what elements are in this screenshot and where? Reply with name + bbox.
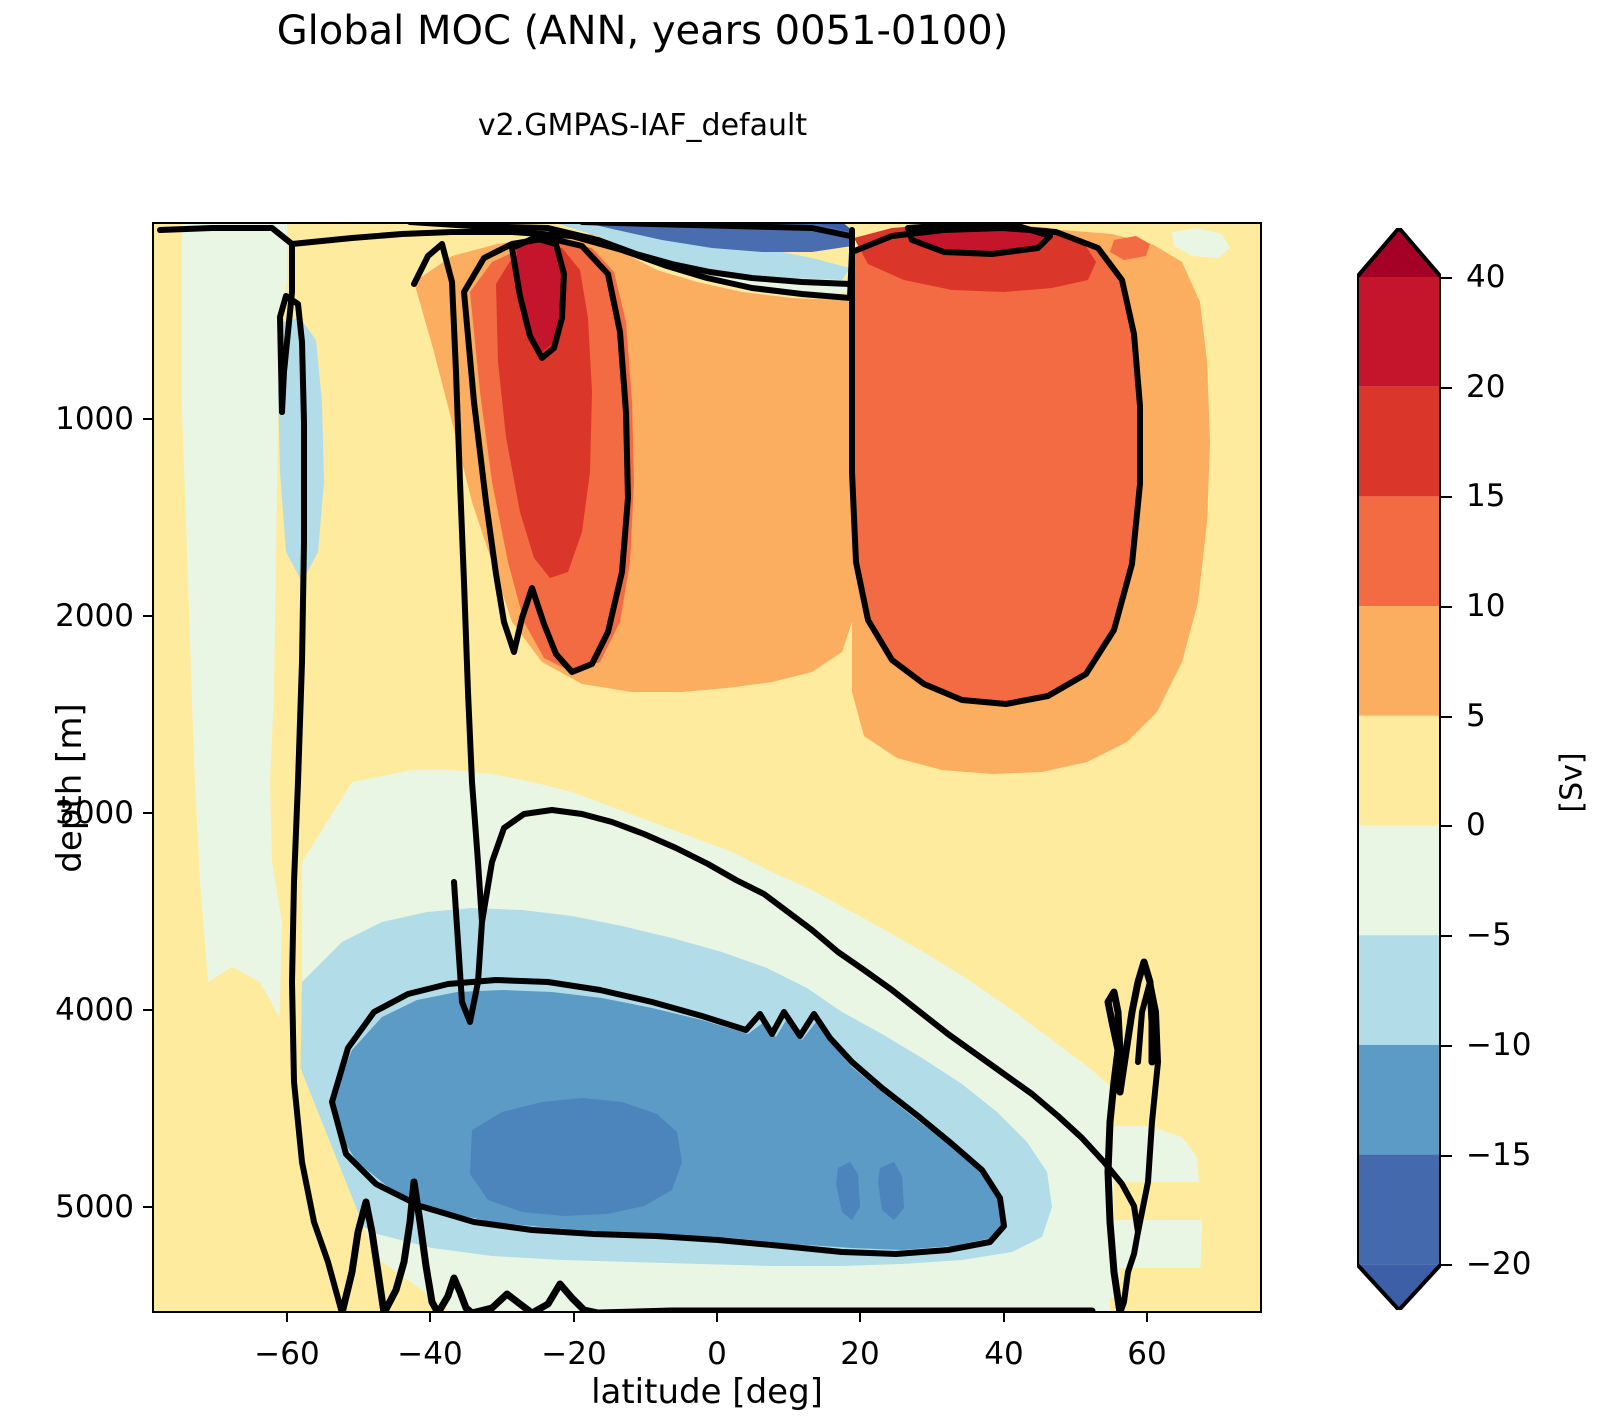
colorbar-tick-label: 5 (1466, 698, 1486, 734)
xtick-label: 0 (707, 1336, 727, 1372)
band-neg15toneg10-core (470, 1098, 682, 1216)
contour-bands (152, 222, 1262, 1313)
colorbar-svg[interactable] (1357, 228, 1441, 1310)
xtick-mark (1146, 1313, 1148, 1322)
xtick-label: 20 (840, 1336, 879, 1372)
colorbar-band-15to20 (1357, 387, 1441, 497)
colorbar-tick-label: 40 (1466, 259, 1505, 295)
xtick-mark (859, 1313, 861, 1322)
yaxis-label: depth [m] (50, 688, 90, 888)
colorbar-tick-label: −10 (1466, 1027, 1531, 1063)
colorbar-tick (1441, 1045, 1452, 1047)
ytick-mark (143, 812, 152, 814)
bathymetry-flat (598, 1311, 1092, 1313)
figure-subtitle: v2.GMPAS-IAF_default (0, 108, 1285, 143)
colorbar-tick (1441, 606, 1452, 608)
xtick-label: −40 (397, 1336, 462, 1372)
colorbar-tick-label: −5 (1466, 917, 1512, 953)
colorbar-tick (1441, 496, 1452, 498)
xtick-mark (286, 1313, 288, 1322)
xtick-label: −20 (541, 1336, 606, 1372)
xtick-label: 40 (984, 1336, 1023, 1372)
ytick-mark (143, 418, 152, 420)
colorbar-tick (1441, 277, 1452, 279)
colorbar-band-5to10 (1357, 606, 1441, 716)
colorbar-band-neg10toneg5 (1357, 935, 1441, 1045)
xtick-label: −60 (254, 1336, 319, 1372)
colorbar-tick-label: 10 (1466, 588, 1505, 624)
colorbar-band-20to40 (1357, 277, 1441, 387)
colorbar-tick (1441, 387, 1452, 389)
colorbar-tick-label: 0 (1466, 807, 1486, 843)
colorbar-band-0to5 (1357, 716, 1441, 826)
colorbar-band-neg15toneg10 (1357, 1045, 1441, 1155)
ytick-label: 1000 (14, 401, 134, 437)
colorbar[interactable] (1357, 228, 1441, 1310)
colorbar-band-neg5to0 (1357, 826, 1441, 936)
colorbar-extend-max (1357, 228, 1441, 277)
ytick-label: 5000 (14, 1189, 134, 1225)
ytick-label: 2000 (14, 598, 134, 634)
band-10to15-north (852, 228, 1140, 702)
ytick-mark (143, 1206, 152, 1208)
colorbar-extend-min (1357, 1264, 1441, 1310)
colorbar-tick (1441, 1155, 1452, 1157)
ytick-mark (143, 615, 152, 617)
xtick-mark (1003, 1313, 1005, 1322)
figure-canvas: Global MOC (ANN, years 0051-0100) v2.GMP… (0, 0, 1614, 1425)
xtick-mark (716, 1313, 718, 1322)
xtick-mark (573, 1313, 575, 1322)
colorbar-tick (1441, 935, 1452, 937)
colorbar-tick-label: −15 (1466, 1137, 1531, 1173)
colorbar-tick-label: 20 (1466, 369, 1505, 405)
colorbar-tick (1441, 1264, 1452, 1266)
xtick-label: 60 (1127, 1336, 1166, 1372)
page-title: Global MOC (ANN, years 0051-0100) (0, 8, 1285, 54)
colorbar-label: [Sv] (1555, 723, 1590, 843)
colorbar-tick-label: 15 (1466, 478, 1505, 514)
ytick-mark (143, 1009, 152, 1011)
xaxis-label: latitude [deg] (152, 1372, 1262, 1412)
contour-plot-area (152, 222, 1262, 1313)
xtick-mark (429, 1313, 431, 1322)
colorbar-band-10to15 (1357, 496, 1441, 606)
ytick-label: 4000 (14, 992, 134, 1028)
colorbar-tick (1441, 825, 1452, 827)
colorbar-tick-label: −20 (1466, 1246, 1531, 1282)
colorbar-tick (1441, 716, 1452, 718)
colorbar-band-neg20toneg15 (1357, 1155, 1441, 1265)
moc-contour-svg (152, 222, 1262, 1313)
